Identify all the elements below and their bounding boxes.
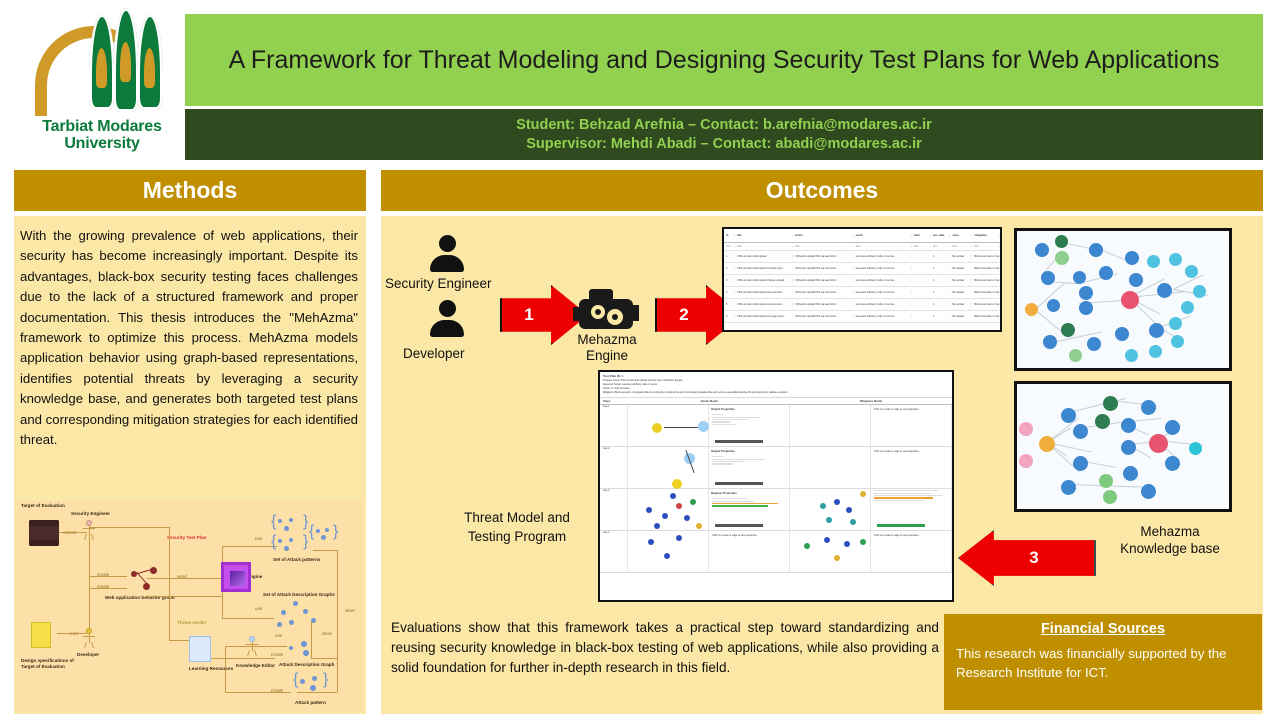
- outcomes-heading: Outcomes: [381, 170, 1263, 211]
- step-label: step 2: [600, 447, 628, 488]
- fig-label-threat-model: Threat model: [177, 620, 206, 625]
- graph-node: [1147, 255, 1160, 268]
- fig-label-developer: Developer: [77, 652, 99, 657]
- th-testdata: test_data: [931, 234, 950, 237]
- graph-node: [1169, 317, 1182, 330]
- graph-node: [1079, 301, 1093, 315]
- developer-label: Developer: [403, 346, 465, 361]
- flow-arrow-2-label: 2: [679, 305, 688, 325]
- table-row: 6 XSS via web shell upload via page type…: [724, 311, 1000, 323]
- financial-sources-box: Financial Sources This research was fina…: [944, 614, 1262, 710]
- knowledge-base-label: Mehazma Knowledge base: [1090, 523, 1250, 557]
- graph-node: [1079, 286, 1093, 300]
- fig-label-set-adg: Set of Attack Description Graphs: [263, 592, 335, 597]
- step-label: step 3: [600, 489, 628, 530]
- fig-label-target-of-evaluation: Target of Evaluation: [21, 503, 65, 508]
- step-label: step 1: [600, 405, 628, 446]
- program-header-title: Test Plan ID: 1: [603, 374, 623, 378]
- mini-table-header-row: id title action result valid test_data s…: [724, 229, 1000, 243]
- graph-node: [1087, 337, 1101, 351]
- mehazma-engine-label: Mehazma Engine: [561, 332, 653, 364]
- program-step-row: step 3 Request Properties: [600, 489, 952, 531]
- methods-heading: Methods: [14, 170, 366, 211]
- fig-attack-pattern-glyph-3: [315, 528, 333, 540]
- fig-edge-store-2: store: [345, 608, 355, 613]
- test-plan-table-screenshot[interactable]: id title action result valid test_data s…: [722, 227, 1002, 332]
- logo-line-2: University: [42, 135, 161, 152]
- poster-canvas: Tarbiat Modares University A Framework f…: [0, 0, 1280, 720]
- step-label: step 4: [600, 531, 628, 572]
- graph-node: [1099, 474, 1113, 488]
- panel-placeholder: Click on a node or edge to view properti…: [709, 531, 790, 572]
- supervisor-contact: Supervisor: Mehdi Abadi – Contact: abadi…: [526, 135, 922, 154]
- wheat-arch-icon: [27, 8, 177, 116]
- fig-edge-create-3: create: [271, 652, 283, 657]
- engine-label-line-1: Mehazma: [561, 332, 653, 348]
- fig-label-learning-resources: Learning Resources: [189, 666, 233, 671]
- col-attack-model: Attack Model: [628, 399, 790, 403]
- graph-node: [1095, 414, 1110, 429]
- program-step-row: step 2 Output Properties Click on a node…: [600, 447, 952, 489]
- graph-node: [1125, 251, 1139, 265]
- methods-architecture-figure: Target of Evaluation Security Engineer S…: [17, 500, 363, 712]
- th-action: action: [793, 234, 854, 237]
- graph-node-root: [1121, 291, 1139, 309]
- mini-table-filter-row: filterfilter filterfilter filterfilter f…: [724, 243, 1000, 251]
- graph-node: [1073, 424, 1088, 439]
- graph-node: [1189, 442, 1202, 455]
- graph-node: [1149, 323, 1164, 338]
- mini-program-ui: Test Plan ID: 1 Purpose: check XSS via w…: [600, 372, 952, 600]
- graph-node: [1073, 456, 1088, 471]
- fig-label-attack-pattern: Attack pattern: [295, 700, 326, 705]
- table-row: 5 XSS via web shell upload via extension…: [724, 299, 1000, 311]
- fig-set-adg-glyph: [275, 600, 321, 630]
- engine-label-line-2: Engine: [561, 348, 653, 364]
- th-id: id: [724, 234, 735, 237]
- tm-label-line-1: Threat Model and: [447, 508, 587, 527]
- graph-node: [1123, 466, 1138, 481]
- graph-node: [1103, 396, 1118, 411]
- graph-node-center: [1149, 434, 1168, 453]
- col-mitigation-model: Mitigation Model: [790, 399, 952, 403]
- fig-attack-pattern-glyph-1: [277, 518, 301, 532]
- graph-node: [1169, 253, 1182, 266]
- fig-design-doc-icon: [31, 622, 51, 648]
- graph-node: [1047, 299, 1060, 312]
- graph-node: [1181, 301, 1194, 314]
- fig-server-icon: [29, 520, 59, 546]
- mehazma-engine-icon: [573, 287, 639, 333]
- fig-attack-pattern-glyph-2: [277, 538, 301, 552]
- security-engineer-label: Security Engineer: [385, 276, 492, 291]
- fig-label-set-attack-patterns: Set of Attack patterns: [273, 557, 320, 562]
- financial-sources-heading: Financial Sources: [956, 621, 1250, 637]
- table-row: 2 XSS via web shell upload Content-Type …: [724, 263, 1000, 275]
- table-row: 3 XSS via web shell upload change upload…: [724, 275, 1000, 287]
- fig-actor-security-engineer: [82, 520, 96, 540]
- graph-node: [1061, 480, 1076, 495]
- panel-title: Request Properties: [709, 489, 789, 497]
- graph-node: [1061, 323, 1075, 337]
- fig-engine-chip-icon: [221, 562, 251, 592]
- graph-node: [1185, 265, 1198, 278]
- graph-node: [1103, 490, 1117, 504]
- kb-label-line-2: Knowledge base: [1090, 540, 1250, 557]
- developer-icon: [430, 300, 464, 340]
- panel-placeholder: Click on a node or edge to view properti…: [871, 447, 952, 488]
- fig-actor-knowledge-editor: [245, 636, 259, 656]
- fig-edge-use-1: use: [255, 536, 262, 541]
- fig-actor-developer: [82, 628, 96, 648]
- mini-table: id title action result valid test_data s…: [724, 229, 1000, 330]
- graph-node: [1121, 440, 1136, 455]
- fig-label-adg: Attack Description Graph: [279, 662, 334, 667]
- col-steps: Steps: [600, 399, 628, 403]
- graph-node: [1055, 235, 1068, 248]
- flow-arrow-3-label: 3: [1029, 548, 1038, 568]
- graph-node: [1099, 266, 1113, 280]
- outcomes-body-text: Evaluations show that this framework tak…: [391, 618, 939, 678]
- fig-learning-resources-icon: [189, 636, 211, 662]
- program-meta-mitigation: Mitigation: Block execution of uploaded …: [603, 391, 949, 395]
- graph-node: [1043, 335, 1057, 349]
- graph-node: [1165, 456, 1180, 471]
- program-column-headers: Steps Attack Model Mitigation Model: [600, 397, 952, 405]
- fig-label-design-spec: Design specifications of Target of Evalu…: [21, 658, 75, 670]
- security-engineer-icon: [430, 235, 464, 275]
- fig-attack-pattern-glyph-4: [299, 676, 323, 692]
- th-title: title: [735, 234, 793, 237]
- panel-title: Output Properties: [709, 405, 789, 413]
- graph-node: [1019, 422, 1033, 436]
- th-mitigation: mitigation: [972, 234, 1000, 237]
- flow-arrow-1-label: 1: [524, 305, 533, 325]
- graph-node: [1141, 484, 1156, 499]
- methods-body-text: With the growing prevalence of web appli…: [20, 222, 362, 450]
- fig-edge-use-2: use: [255, 606, 262, 611]
- graph-node: [1019, 454, 1033, 468]
- graph-node: [1129, 273, 1143, 287]
- student-contact: Student: Behzad Arefnia – Contact: b.are…: [516, 116, 932, 135]
- panel-placeholder: Click on a node or edge to view properti…: [871, 531, 952, 572]
- graph-node: [1193, 285, 1206, 298]
- graph-node: [1121, 418, 1136, 433]
- th-result: result: [854, 234, 912, 237]
- university-logo: Tarbiat Modares University: [18, 8, 186, 166]
- graph-node: [1061, 408, 1076, 423]
- graph-node: [1073, 271, 1086, 284]
- graph-node: [1115, 327, 1129, 341]
- graph-node: [1025, 303, 1038, 316]
- authors-bar: Student: Behzad Arefnia – Contact: b.are…: [185, 109, 1263, 160]
- th-valid: valid: [912, 234, 931, 237]
- program-header: Test Plan ID: 1 Purpose: check XSS via w…: [600, 372, 952, 397]
- graph-node: [1165, 420, 1180, 435]
- fig-behavior-graph-glyph: [129, 564, 159, 592]
- graph-node: [1035, 243, 1049, 257]
- tm-label-line-2: Testing Program: [447, 527, 587, 546]
- flow-arrow-3: 3: [958, 530, 1096, 586]
- fig-label-security-engineer: Security Engineer: [71, 511, 110, 516]
- fig-label-security-test-plan: Security Test Plan: [167, 535, 207, 540]
- graph-node: [1041, 271, 1055, 285]
- graph-node: [1157, 283, 1172, 298]
- program-step-row: step 4 Click on a node or edge to view p…: [600, 531, 952, 573]
- logo-line-1: Tarbiat Modares: [42, 118, 161, 135]
- fig-edge-store-1: store: [322, 631, 332, 636]
- graph-node: [1149, 345, 1162, 358]
- graph-node: [1125, 349, 1138, 362]
- panel-title: Output Properties: [709, 447, 789, 455]
- threat-model-program-screenshot[interactable]: Test Plan ID: 1 Purpose: check XSS via w…: [598, 370, 954, 602]
- table-row: 1 XSS via web shell upload /XSS+file upl…: [724, 251, 1000, 263]
- kb-label-line-1: Mehazma: [1090, 523, 1250, 540]
- table-row: 4 XSS via web shell upload via extension…: [724, 287, 1000, 299]
- graph-node: [1141, 400, 1156, 415]
- fig-label-knowledge-editor: Knowledge Editor: [236, 663, 275, 668]
- fig-edge-use-3: use: [275, 633, 282, 638]
- financial-sources-body: This research was financially supported …: [956, 644, 1250, 682]
- graph-node: [1089, 243, 1103, 257]
- panel-placeholder: Click on a node or edge to view properti…: [871, 405, 952, 446]
- graph-node: [1171, 335, 1184, 348]
- graph-node-root: [1039, 436, 1055, 452]
- program-step-row: step 1 Output Properties Click on a node…: [600, 405, 952, 447]
- th-steps: steps: [950, 234, 972, 237]
- threat-model-label: Threat Model and Testing Program: [447, 508, 587, 546]
- fig-adg-glyph: [287, 640, 317, 658]
- knowledge-graph-screenshot-1[interactable]: [1014, 228, 1232, 371]
- graph-node: [1069, 349, 1082, 362]
- poster-title: A Framework for Threat Modeling and Desi…: [185, 14, 1263, 106]
- graph-node: [1055, 251, 1069, 265]
- knowledge-graph-screenshot-2[interactable]: [1014, 381, 1232, 512]
